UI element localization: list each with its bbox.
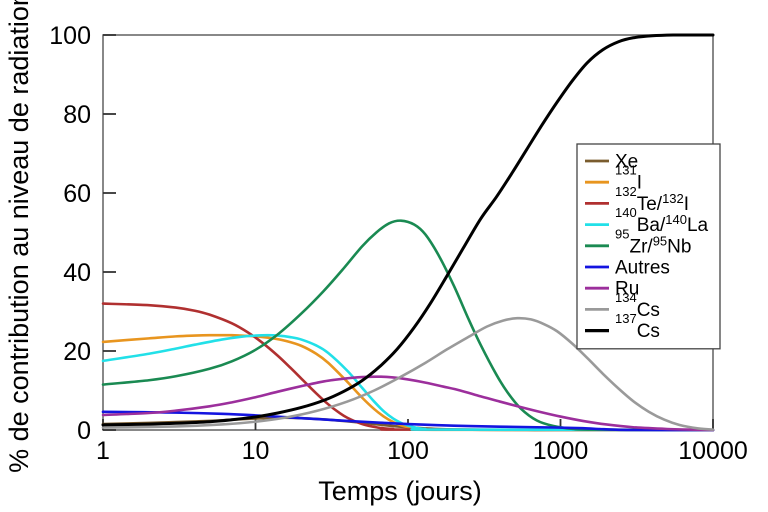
chart-figure: 020406080100110100100010000 Temps (jours… — [0, 0, 768, 512]
legend-main: Cs — [637, 321, 660, 342]
legend-sup-2: 132 — [662, 191, 684, 206]
x-tick-label: 10 — [242, 437, 270, 465]
x-tick-label: 100 — [387, 437, 429, 465]
legend-main: I — [637, 173, 642, 194]
legend-main: Cs — [637, 300, 660, 321]
legend-sup: 131 — [615, 162, 637, 177]
legend-label: Autres — [615, 258, 670, 279]
x-tick-label: 1000 — [533, 437, 589, 465]
legend-sup: 137 — [615, 311, 637, 326]
legend-sup-2: 95 — [653, 233, 667, 248]
y-tick-label: 60 — [63, 180, 91, 208]
legend-sup: 140 — [615, 205, 637, 220]
y-tick-label: 0 — [77, 417, 91, 445]
chart-canvas: 020406080100110100100010000 Temps (jours… — [0, 0, 768, 512]
legend-sup: 134 — [615, 289, 637, 304]
legend-sup: 132 — [615, 183, 637, 198]
x-tick-label: 10000 — [678, 437, 748, 465]
y-tick-label: 40 — [63, 259, 91, 287]
x-tick-label: 1 — [96, 437, 110, 465]
legend-main: Autres — [615, 258, 670, 279]
legend-main: Te/ — [637, 194, 663, 215]
y-tick-label: 100 — [49, 22, 91, 50]
y-tick-label: 20 — [63, 338, 91, 366]
legend-main-2: La — [687, 215, 709, 236]
x-axis-title: Temps (jours) — [318, 476, 482, 506]
legend-sup: 95 — [615, 226, 629, 241]
legend-main-2: Nb — [667, 236, 691, 257]
chart-legend: Xe131I132Te/132I140Ba/140La95Zr/95NbAutr… — [577, 144, 720, 349]
y-tick-label: 80 — [63, 101, 91, 129]
legend-sup-2: 140 — [665, 212, 687, 227]
legend-main: Zr/ — [629, 236, 653, 257]
y-axis-title: % de contribution au niveau de radiation — [4, 0, 34, 473]
